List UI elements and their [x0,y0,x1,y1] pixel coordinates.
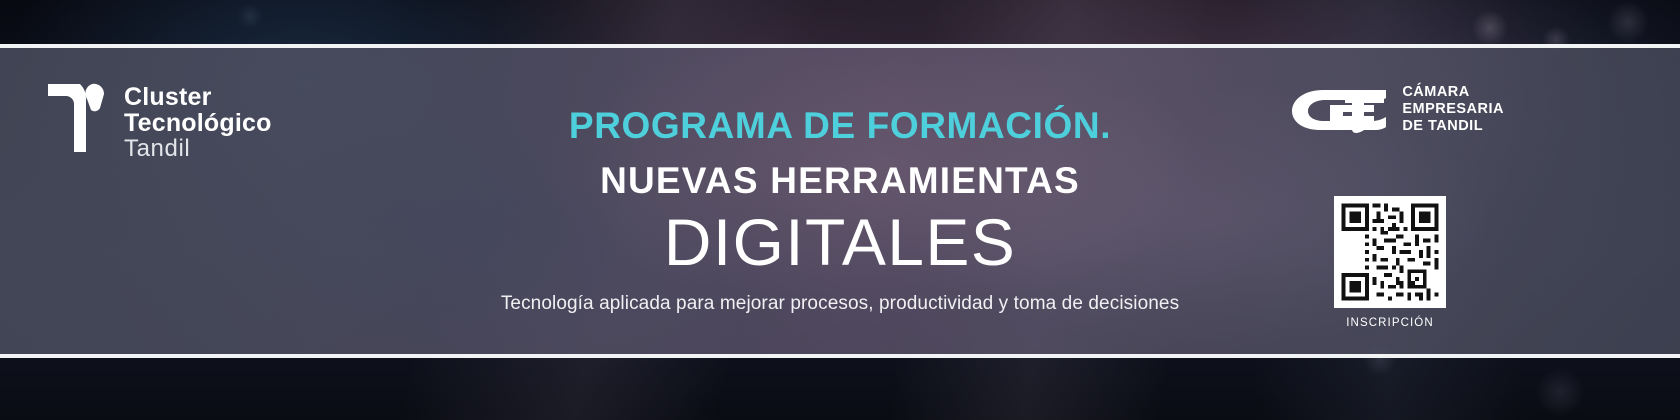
qr-code-icon[interactable] [1334,196,1446,308]
qr-caption-label: INSCRIPCIÓN [1334,317,1446,329]
cet-logo-line-1: CÁMARA [1402,84,1504,101]
divider-rule-bottom [0,354,1680,358]
cet-logo: CÁMARA EMPRESARIA DE TANDIL [1290,84,1504,135]
cet-monogram-icon [1290,86,1388,134]
registration-qr-block[interactable]: INSCRIPCIÓN [1334,196,1446,329]
cet-logo-line-2: EMPRESARIA [1402,101,1504,118]
divider-rule-top [0,44,1680,48]
cet-logo-wordmark: CÁMARA EMPRESARIA DE TANDIL [1402,84,1504,135]
event-banner: Cluster Tecnológico Tandil PROGRAMA DE F… [0,0,1680,420]
cet-logo-line-3: DE TANDIL [1402,118,1504,135]
